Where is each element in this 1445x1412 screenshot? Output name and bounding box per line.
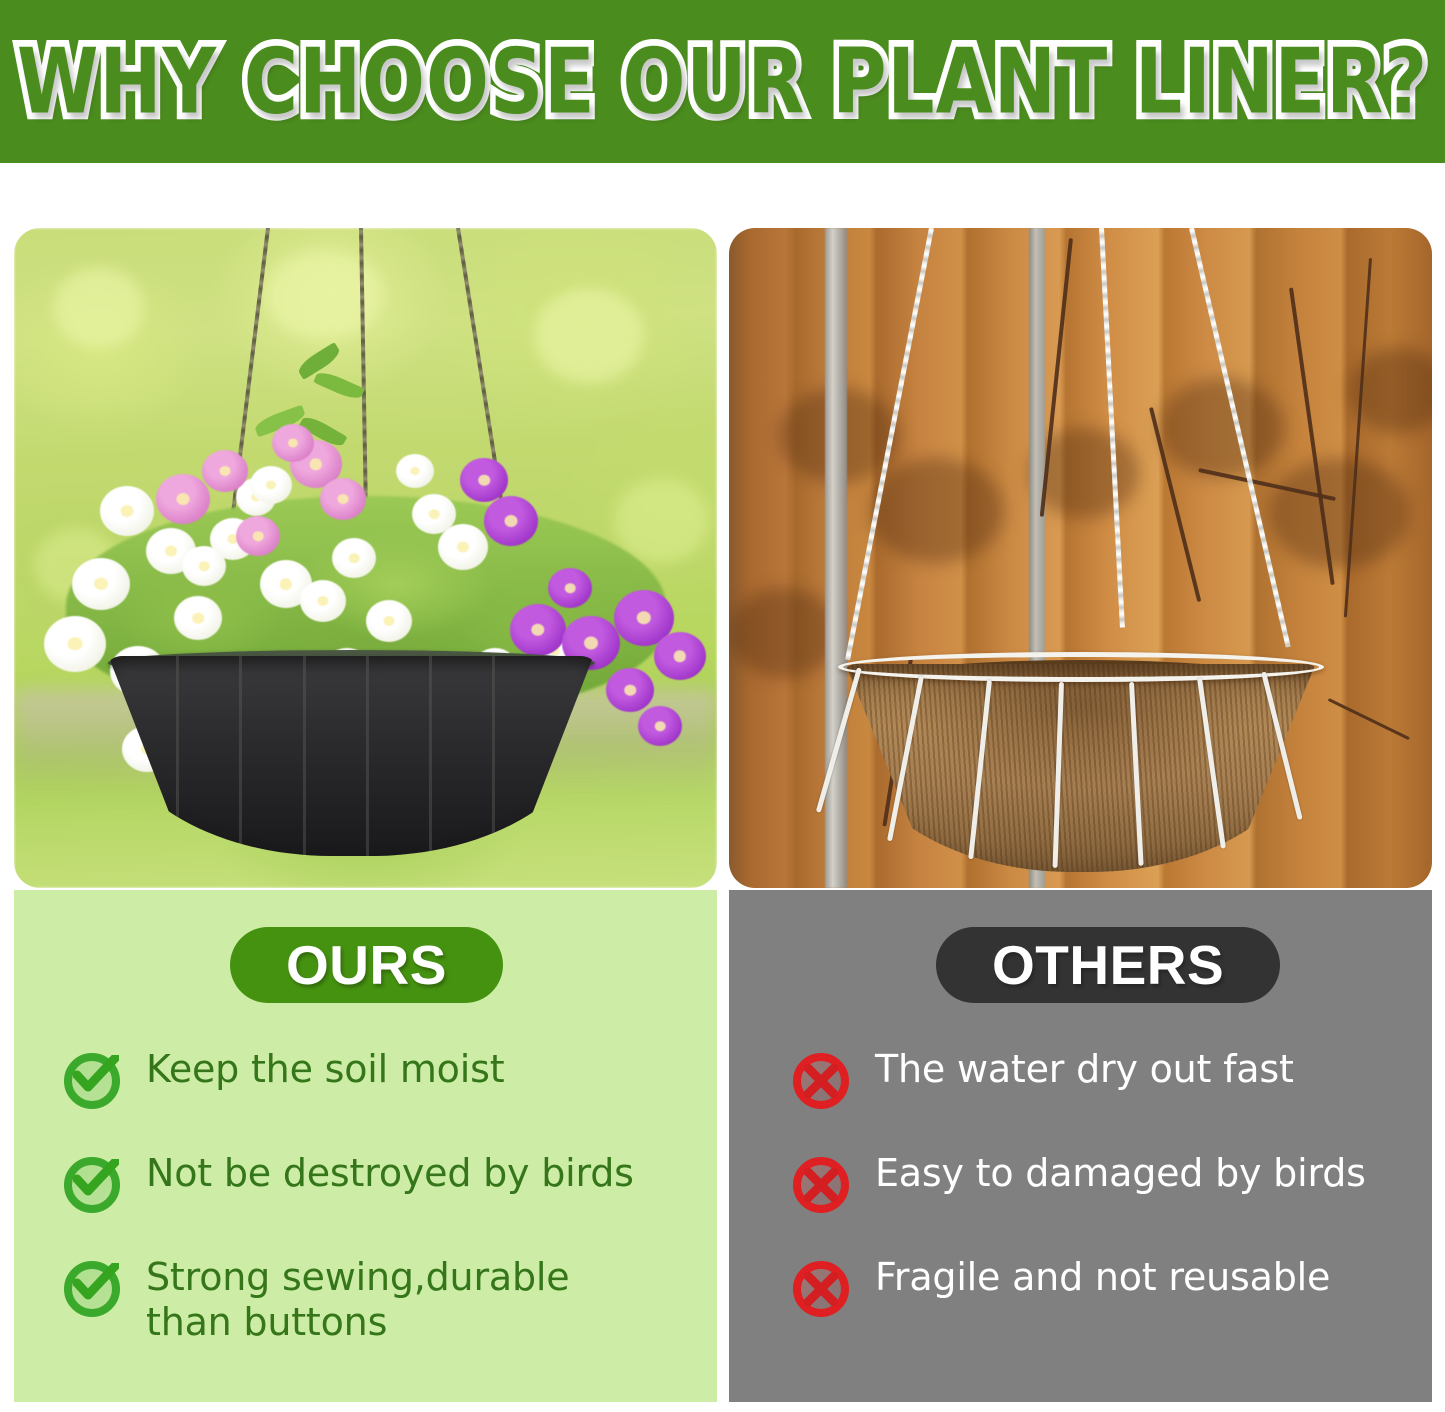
felt-rib xyxy=(365,656,368,856)
flower-bloom xyxy=(438,524,488,570)
list-item-label: Keep the soil moist xyxy=(124,1047,504,1092)
bokeh-light xyxy=(54,268,144,348)
flower-bloom xyxy=(236,516,280,556)
flower-bloom xyxy=(510,604,566,656)
list-item-label: The water dry out fast xyxy=(853,1047,1294,1092)
cross-circle-icon xyxy=(791,1049,853,1111)
others-bullet-list: The water dry out fast Easy to damaged b… xyxy=(729,1047,1432,1359)
check-mark-glyph xyxy=(73,1263,119,1303)
ours-bullet-list: Keep the soil moist Not be destroyed by … xyxy=(14,1047,717,1379)
metal-post xyxy=(825,228,847,888)
leaf-shadow xyxy=(869,458,1004,563)
flower-bloom xyxy=(460,458,508,502)
leaf-shadow xyxy=(729,588,839,678)
felt-rib xyxy=(302,656,305,856)
felt-rib xyxy=(176,656,179,856)
check-circle-icon xyxy=(62,1153,124,1215)
flower-bloom xyxy=(156,474,210,524)
flower-bloom xyxy=(366,600,412,642)
check-circle-icon xyxy=(62,1257,124,1319)
cross-circle-icon xyxy=(791,1153,853,1215)
x-mark-glyph xyxy=(804,1168,838,1202)
wire-basket-rim xyxy=(838,652,1324,682)
flower-bloom xyxy=(320,478,366,520)
ours-panel: OURS Keep the soil moist No xyxy=(14,890,717,1402)
list-item: Not be destroyed by birds xyxy=(62,1151,717,1221)
felt-rib xyxy=(492,656,495,856)
flower-bloom xyxy=(44,616,106,672)
page-title: WHY CHOOSE OUR PLANT LINER? xyxy=(17,29,1428,134)
list-item: Strong sewing,durable than buttons xyxy=(62,1255,717,1345)
flower-bloom xyxy=(174,596,222,640)
list-item-label: Fragile and not reusable xyxy=(853,1255,1330,1300)
cross-circle-icon xyxy=(791,1257,853,1319)
list-item-label: Strong sewing,durable than buttons xyxy=(124,1255,644,1345)
list-item: Fragile and not reusable xyxy=(791,1255,1432,1325)
others-badge: OTHERS xyxy=(936,927,1280,1003)
flower-bloom xyxy=(272,424,314,462)
list-item: Keep the soil moist xyxy=(62,1047,717,1117)
header-banner: WHY CHOOSE OUR PLANT LINER? xyxy=(0,0,1445,163)
others-panel: OTHERS The water dry out fast xyxy=(729,890,1432,1402)
list-item: Easy to damaged by birds xyxy=(791,1151,1432,1221)
flower-bloom xyxy=(100,486,154,536)
ours-badge: OURS xyxy=(230,927,503,1003)
felt-rib xyxy=(429,656,432,856)
flower-bloom xyxy=(638,706,682,746)
bokeh-light xyxy=(534,288,644,383)
flower-bloom xyxy=(300,580,346,622)
comparison-panels: OURS Keep the soil moist No xyxy=(0,890,1445,1402)
list-item-label: Not be destroyed by birds xyxy=(124,1151,634,1196)
flower-bloom xyxy=(484,496,538,546)
flower-bloom xyxy=(182,546,226,586)
flower-bloom xyxy=(332,538,376,578)
felt-rib xyxy=(239,656,242,856)
flower-bloom xyxy=(72,558,130,610)
flower-bloom xyxy=(202,450,248,492)
check-mark-glyph xyxy=(73,1055,119,1095)
list-item-label: Easy to damaged by birds xyxy=(853,1151,1366,1196)
bokeh-light xyxy=(264,250,384,340)
leaf-shadow xyxy=(1269,458,1409,568)
flower-bloom xyxy=(548,568,592,608)
leaf-shadow xyxy=(1159,378,1284,478)
check-mark-glyph xyxy=(73,1159,119,1199)
flower-bloom xyxy=(606,668,654,712)
x-mark-glyph xyxy=(804,1064,838,1098)
x-mark-glyph xyxy=(804,1272,838,1306)
others-hanging-basket-photo xyxy=(729,228,1432,888)
flower-bloom xyxy=(396,454,434,488)
check-circle-icon xyxy=(62,1049,124,1111)
ours-hanging-basket-photo xyxy=(14,228,717,888)
list-item: The water dry out fast xyxy=(791,1047,1432,1117)
photo-comparison-row xyxy=(0,163,1445,890)
bokeh-light xyxy=(614,478,709,563)
flower-bloom xyxy=(250,466,292,504)
flower-bloom xyxy=(654,632,706,680)
